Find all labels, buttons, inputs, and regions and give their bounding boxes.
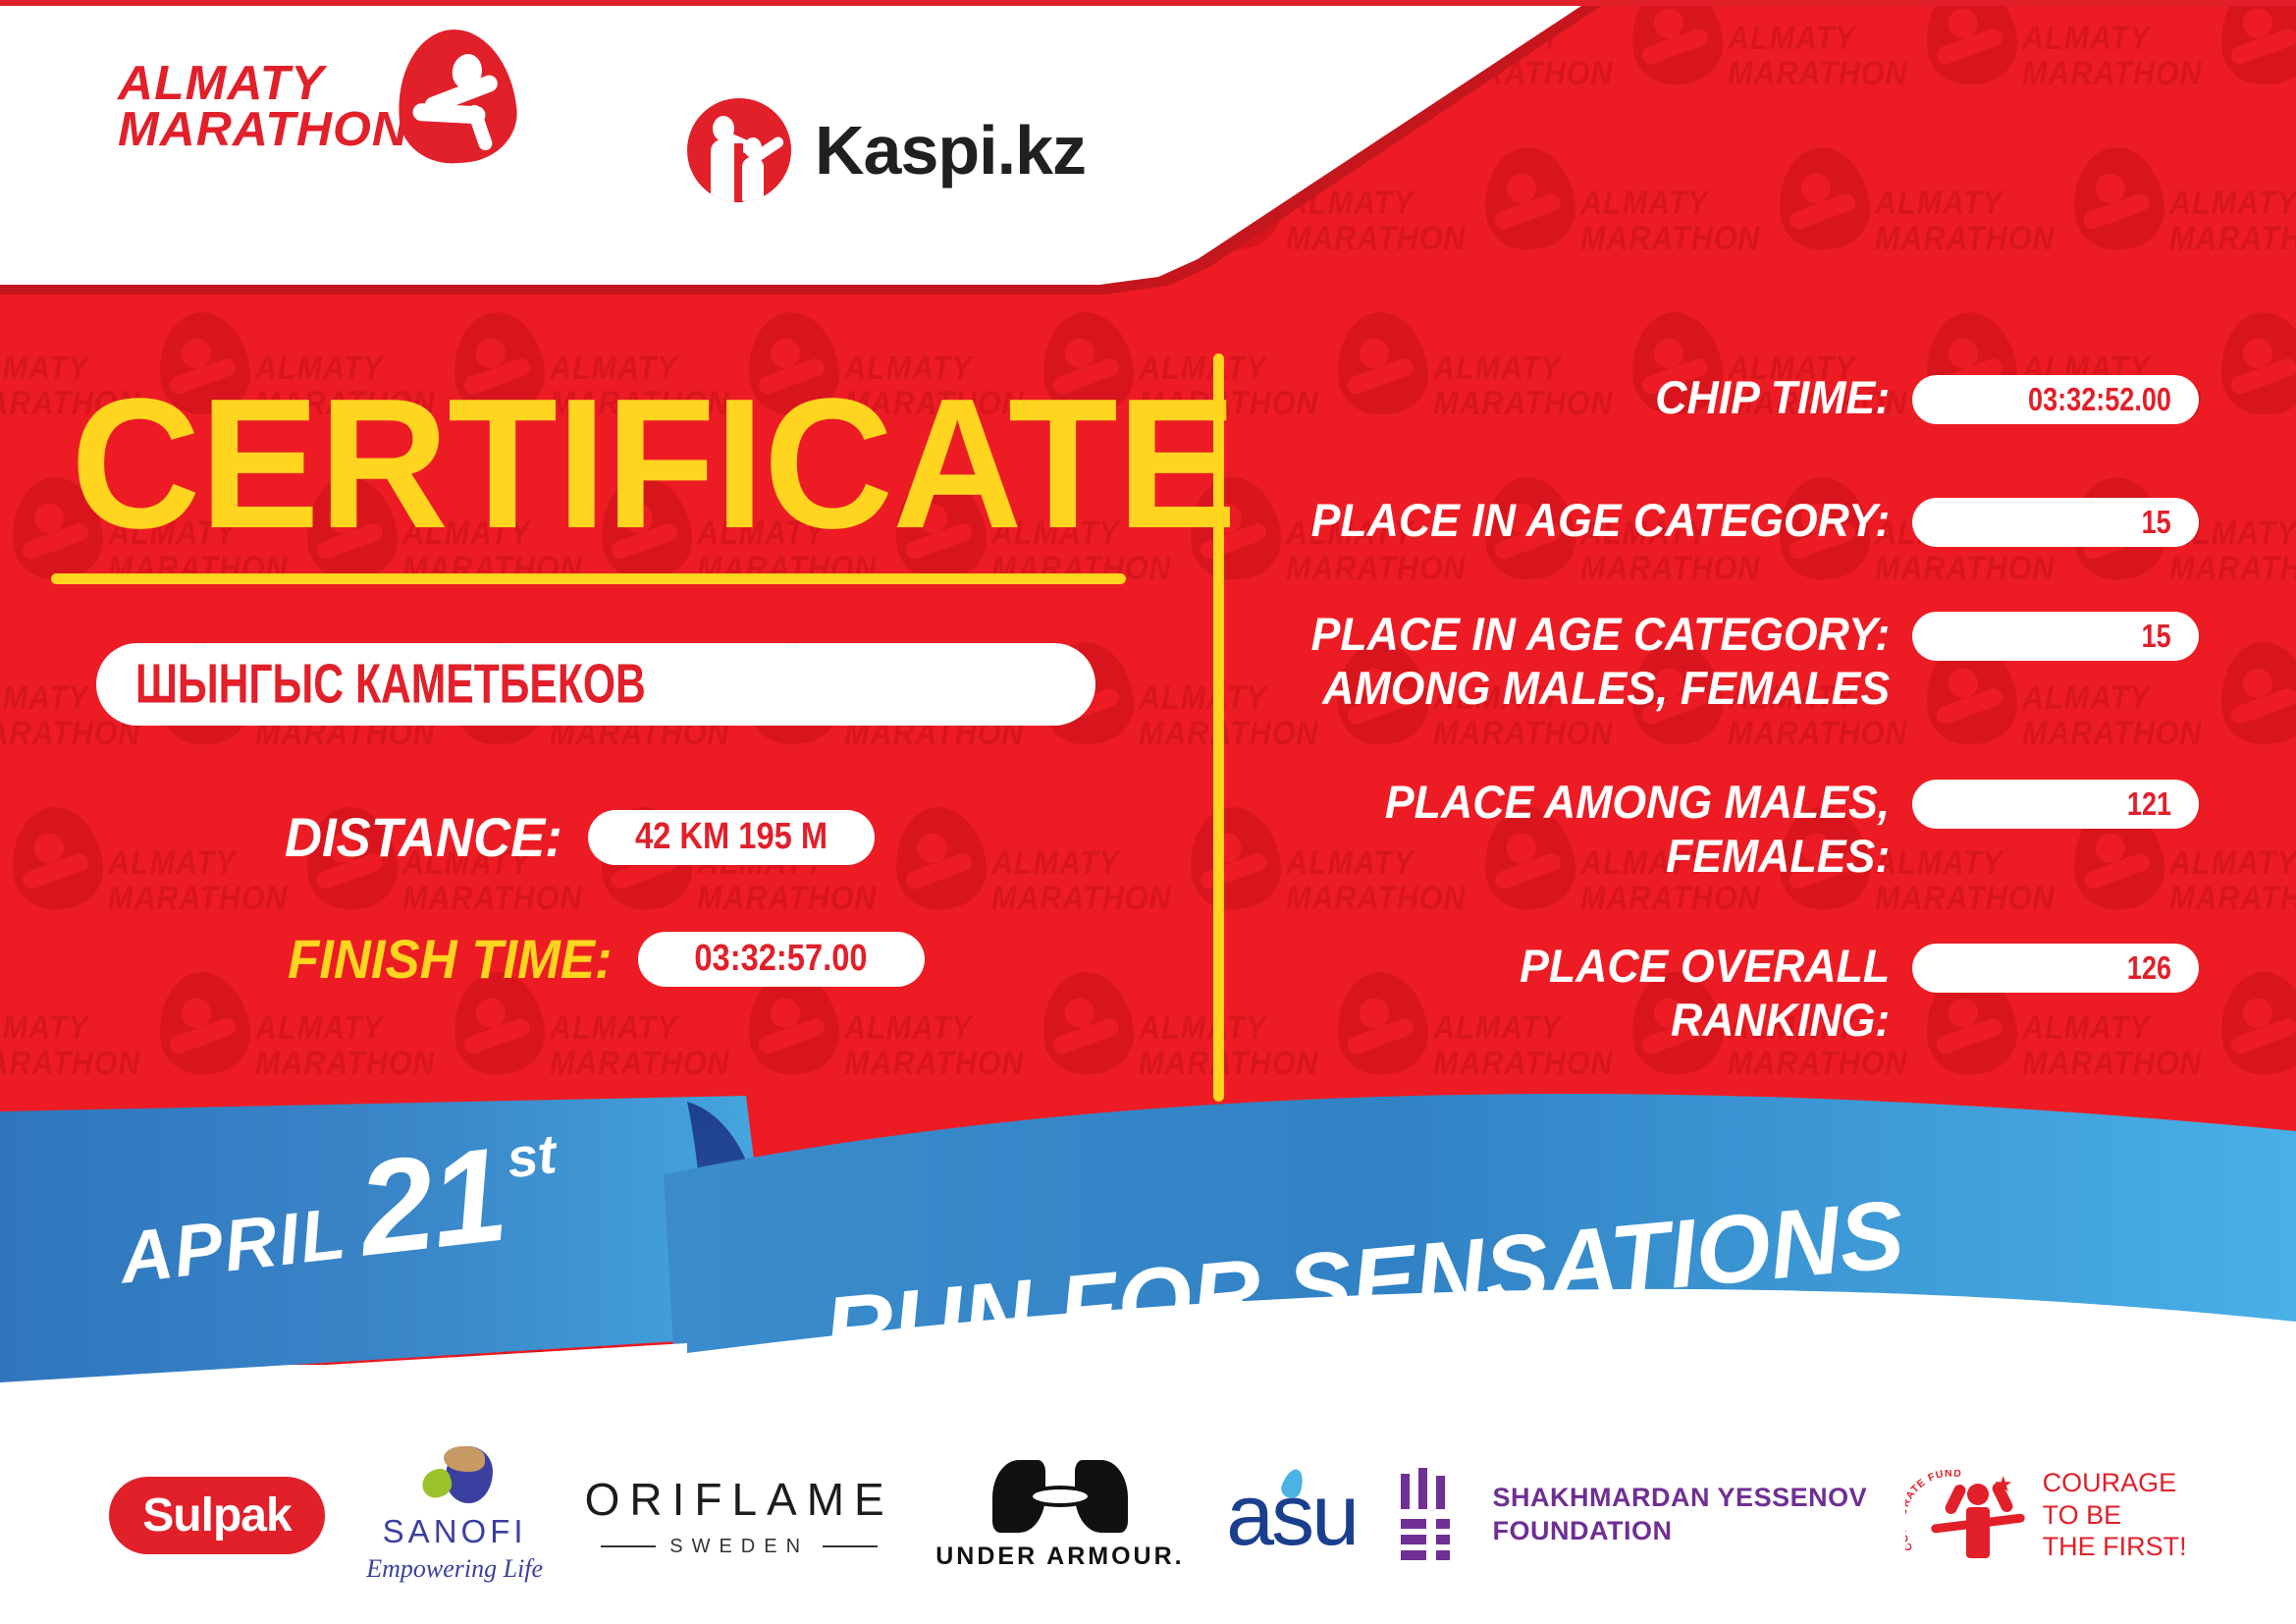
courage-wordmark: COURAGE TO BE THE FIRST! (2043, 1467, 2187, 1564)
almaty-marathon-logo: ALMATY MARATHON (118, 61, 402, 153)
sponsor-courage-fund: CORPORATE FUND ★ COURAGE TO BE THE FIRST… (1909, 1446, 2187, 1584)
watermark-drop-icon (1479, 142, 1579, 253)
place-age-category-value-field: 15 (1912, 498, 2199, 547)
distance-row: DISTANCE: 42 KM 195 M (267, 805, 875, 869)
courage-runner-icon: CORPORATE FUND ★ (1909, 1460, 2027, 1570)
place-overall-row: PLACE OVERALL RANKING: 126 (1276, 940, 2199, 1047)
yessenov-line2: FOUNDATION (1493, 1515, 1868, 1548)
courage-line1: COURAGE (2043, 1467, 2187, 1499)
place-age-category-value: 15 (2142, 504, 2171, 541)
athlete-name-field: ШЫНГЫС КАМЕТБЕКОВ (96, 643, 1095, 726)
watermark-tile: ALMATYMARATHON (0, 805, 108, 970)
event-day-suffix: st (504, 1121, 560, 1190)
place-age-category-gender-label-line1: PLACE IN AGE CATEGORY: (1308, 608, 1890, 662)
sponsor-under-armour: UNDER ARMOUR. (935, 1446, 1184, 1584)
under-armour-wordmark: UNDER ARMOUR. (935, 1543, 1184, 1571)
sponsor-bar: Sulpak SANOFI Empowering Life ORIFLAME S… (0, 1406, 2296, 1624)
watermark-drop-icon (2068, 142, 2168, 253)
watermark-drop-icon (890, 802, 990, 913)
oriflame-rule-left (601, 1545, 656, 1547)
place-among-gender-label-line2: FEMALES: (1308, 830, 1890, 884)
oriflame-wordmark: ORIFLAME (585, 1473, 894, 1526)
watermark-drop-icon (2216, 0, 2296, 89)
sanofi-wordmark: SANOFI (366, 1513, 543, 1550)
watermark-drop-icon (1627, 0, 1727, 89)
sponsor-asu: asu (1226, 1446, 1357, 1584)
chip-time-row: CHIP TIME: 03:32:52.00 (1276, 371, 2199, 425)
chip-time-value-field: 03:32:52.00 (1912, 375, 2199, 424)
oriflame-country: SWEDEN (669, 1536, 809, 1558)
kaspi-logo: Kaspi.kz (687, 98, 1086, 202)
page-title: CERTIFICATE (71, 371, 1236, 557)
watermark-drop-icon (1921, 0, 2021, 89)
watermark-drop-icon (1774, 142, 1874, 253)
courage-figure-icon: ★ (1949, 1478, 2009, 1560)
kaspi-people-icon (687, 98, 791, 202)
courage-line3: THE FIRST! (2043, 1531, 2187, 1563)
watermark-drop-icon (1038, 967, 1138, 1078)
title-underline (51, 573, 1126, 584)
finish-time-label: FINISH TIME: (288, 927, 612, 991)
sanofi-bird-icon (416, 1446, 493, 1507)
place-age-category-gender-label: PLACE IN AGE CATEGORY: AMONG MALES, FEMA… (1308, 608, 1912, 715)
watermark-drop-icon (1185, 802, 1285, 913)
yessenov-wordmark: SHAKHMARDAN YESSENOV FOUNDATION (1493, 1482, 1868, 1548)
place-among-gender-value-field: 121 (1912, 780, 2199, 829)
finish-time-value-field: 03:32:57.00 (638, 932, 925, 987)
distance-label: DISTANCE: (285, 805, 562, 869)
sponsor-sulpak: Sulpak (109, 1446, 324, 1584)
yessenov-bars-icon (1399, 1468, 1468, 1562)
place-age-category-row: PLACE IN AGE CATEGORY: 15 (1276, 494, 2199, 548)
athlete-name-value: ШЫНГЫС КАМЕТБЕКОВ (135, 653, 646, 717)
asu-logo: asu (1226, 1465, 1357, 1565)
chip-time-label: CHIP TIME: (1308, 371, 1912, 425)
event-day: 21 (351, 1117, 512, 1286)
place-age-category-gender-value-field: 15 (1912, 612, 2199, 661)
event-month: APRIL (116, 1191, 351, 1300)
certificate-canvas: ALMATYMARATHONALMATYMARATHONALMATYMARATH… (0, 0, 2296, 1624)
watermark-tile: ALMATYMARATHON (2169, 145, 2296, 310)
finish-time-value: 03:32:57.00 (694, 938, 867, 980)
place-among-gender-row: PLACE AMONG MALES, FEMALES: 121 (1276, 776, 2199, 883)
place-age-category-gender-value: 15 (2142, 618, 2171, 655)
watermark-drop-icon (2216, 967, 2296, 1078)
sanofi-logo: SANOFI Empowering Life (366, 1446, 543, 1584)
place-overall-value: 126 (2127, 949, 2171, 987)
place-overall-label: PLACE OVERALL RANKING: (1308, 940, 1912, 1047)
results-list: CHIP TIME: 03:32:52.00 PLACE IN AGE CATE… (1276, 371, 2199, 1086)
watermark-tile: ALMATYMARATHON (991, 805, 1286, 970)
courage-logo: CORPORATE FUND ★ COURAGE TO BE THE FIRST… (1909, 1460, 2187, 1570)
place-age-category-gender-label-line2: AMONG MALES, FEMALES (1308, 662, 1890, 716)
place-among-gender-value: 121 (2127, 785, 2171, 823)
finish-time-row: FINISH TIME: 03:32:57.00 (267, 927, 925, 991)
sanofi-tagline: Empowering Life (366, 1554, 543, 1584)
courage-line2: TO BE (2043, 1499, 2187, 1532)
yessenov-line1: SHAKHMARDAN YESSENOV (1493, 1482, 1868, 1515)
sponsor-sanofi: SANOFI Empowering Life (366, 1446, 543, 1584)
column-divider (1213, 353, 1224, 1102)
oriflame-rule-right (823, 1545, 878, 1547)
watermark-drop-icon (154, 967, 254, 1078)
watermark-tile: ALMATYMARATHON (1875, 145, 2169, 310)
place-among-gender-label: PLACE AMONG MALES, FEMALES: (1308, 776, 1912, 883)
kaspi-wordmark: Kaspi.kz (815, 111, 1086, 189)
yessenov-logo: SHAKHMARDAN YESSENOV FOUNDATION (1399, 1468, 1868, 1562)
place-overall-value-field: 126 (1912, 944, 2199, 993)
chip-time-value: 03:32:52.00 (2028, 381, 2171, 418)
almaty-marathon-line2: MARATHON (118, 107, 408, 153)
distance-value: 42 KM 195 M (635, 816, 828, 858)
sponsor-oriflame: ORIFLAME SWEDEN (585, 1446, 894, 1584)
place-age-category-label: PLACE IN AGE CATEGORY: (1308, 494, 1912, 548)
place-among-gender-label-line1: PLACE AMONG MALES, (1308, 776, 1890, 830)
under-armour-icon (992, 1460, 1128, 1533)
watermark-drop-icon (2216, 307, 2296, 418)
runner-leg-icon (465, 103, 494, 152)
watermark-tile: ALMATYMARATHON (1580, 145, 1875, 310)
top-rule (0, 0, 2296, 6)
place-age-category-gender-row: PLACE IN AGE CATEGORY: AMONG MALES, FEMA… (1276, 608, 2199, 715)
watermark-drop-icon (7, 802, 107, 913)
distance-value-field: 42 KM 195 M (588, 810, 875, 865)
oriflame-logo: ORIFLAME SWEDEN (585, 1473, 894, 1558)
watermark-tile: ALMATYMARATHON (1728, 0, 2022, 145)
under-armour-logo: UNDER ARMOUR. (935, 1460, 1184, 1571)
sulpak-logo: Sulpak (109, 1477, 324, 1554)
oriflame-subline: SWEDEN (585, 1536, 894, 1558)
watermark-tile: ALMATYMARATHON (2022, 0, 2296, 145)
almaty-marathon-line1: ALMATY (118, 61, 408, 107)
sponsor-yessenov-foundation: SHAKHMARDAN YESSENOV FOUNDATION (1399, 1446, 1868, 1584)
watermark-drop-icon (2216, 637, 2296, 748)
